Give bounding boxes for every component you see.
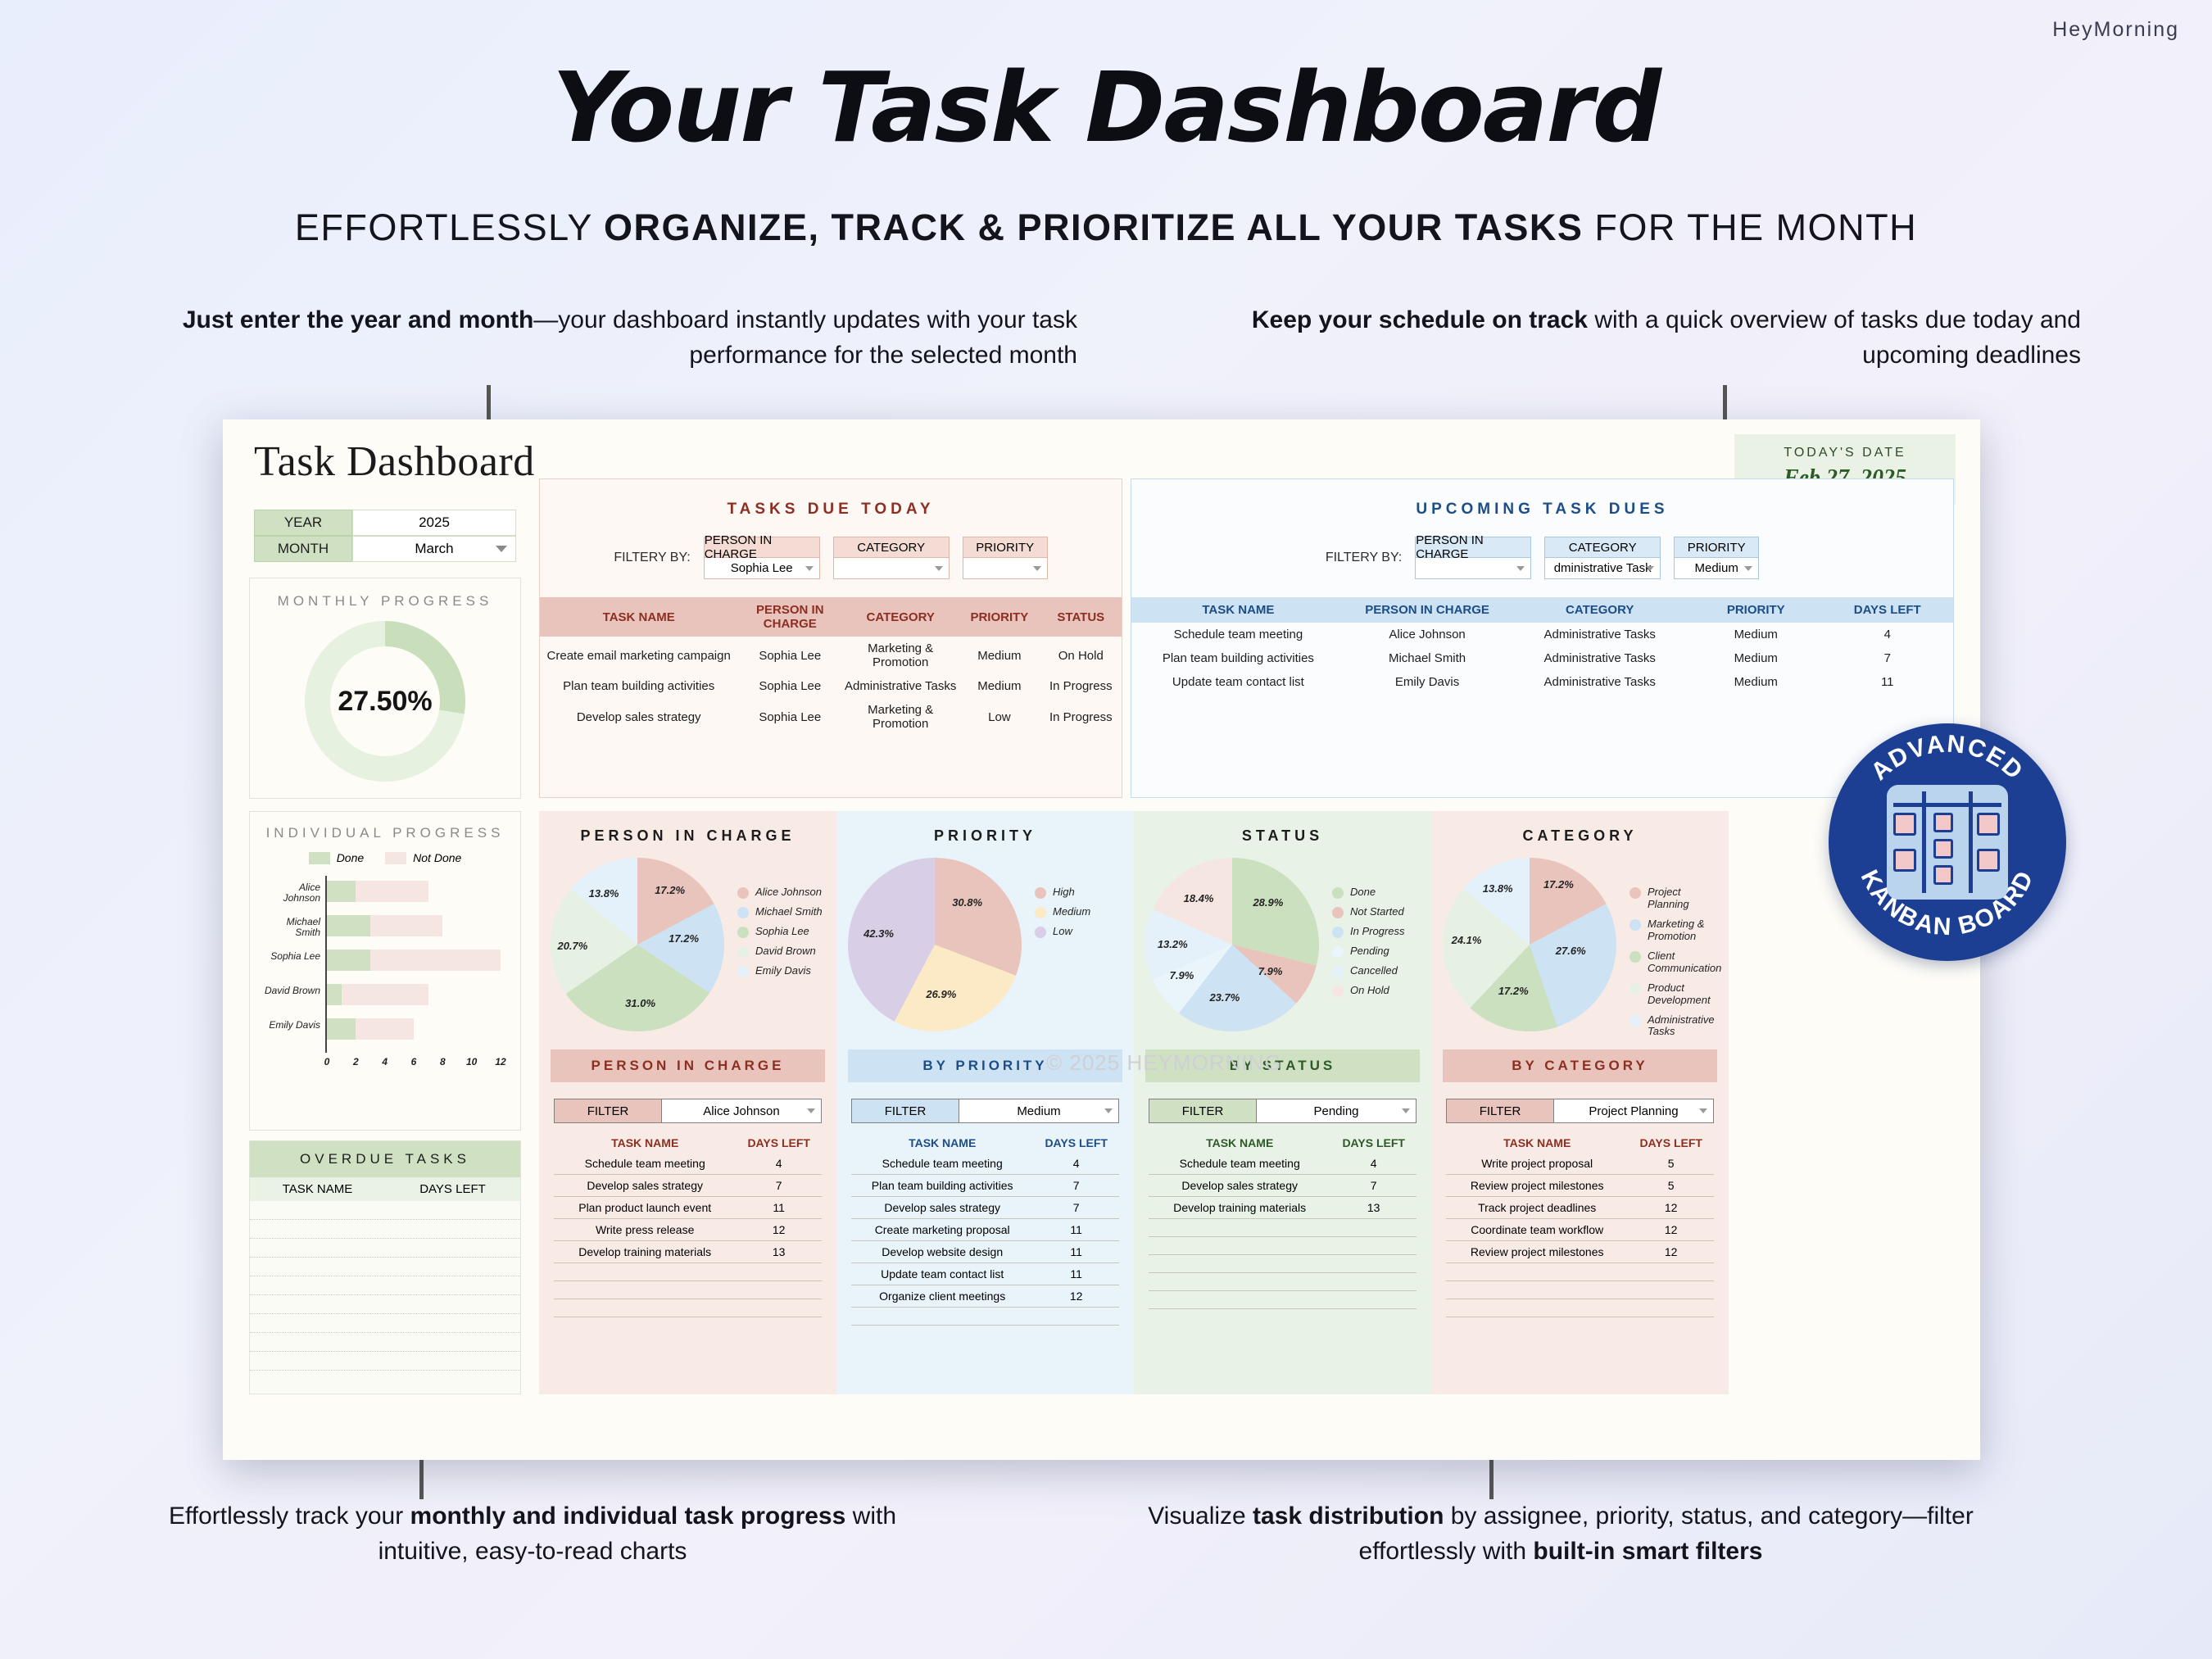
- table-row: Schedule team meeting4: [1149, 1153, 1416, 1175]
- col-status: STATUS: [1040, 597, 1122, 637]
- subtitle-pre: EFFORTLESSLY: [295, 206, 604, 248]
- table-row: Develop sales strategy7: [1149, 1175, 1416, 1197]
- pie-chart-title: PERSON IN CHARGE: [539, 811, 836, 845]
- table-header-row: TASK NAMEDAYS LEFT: [1446, 1136, 1714, 1153]
- filter-priority-value[interactable]: [963, 558, 1048, 579]
- bottom-filter-label: FILTER: [1447, 1099, 1553, 1122]
- x-axis-tick: 10: [462, 1056, 482, 1067]
- legend-item: Product Development: [1630, 982, 1724, 1007]
- upcoming-task-dues-table: TASK NAME PERSON IN CHARGE CATEGORY PRIO…: [1131, 597, 1953, 694]
- table-row: [1149, 1237, 1416, 1255]
- table-row: [554, 1281, 822, 1299]
- legend-item-done: Done: [309, 851, 364, 864]
- table-cell: Plan team building activities: [540, 674, 737, 698]
- pie-slice-label: 7.9%: [1258, 965, 1283, 977]
- column-header: DAYS LEFT: [1628, 1136, 1714, 1153]
- overdue-tasks-rows: [250, 1201, 520, 1371]
- tasks-due-today-title: TASKS DUE TODAY: [540, 479, 1122, 519]
- table-row: [250, 1258, 520, 1276]
- table-cell: Administrative Tasks: [1509, 623, 1690, 646]
- filter-priority-value[interactable]: Medium: [1674, 558, 1759, 579]
- column-header: DAYS LEFT: [736, 1136, 822, 1153]
- bar-segment-not-done: [356, 1018, 414, 1040]
- col-person-in-charge: PERSON IN CHARGE: [737, 597, 842, 637]
- table-row: [554, 1299, 822, 1317]
- col-days-left: DAYS LEFT: [1821, 597, 1953, 623]
- col-person-in-charge: PERSON IN CHARGE: [1345, 597, 1510, 623]
- bottom-section-heading: PERSON IN CHARGE: [551, 1049, 825, 1082]
- legend-label: Cancelled: [1350, 965, 1398, 977]
- table-cell: 7: [1033, 1175, 1119, 1197]
- table-cell: Medium: [959, 637, 1040, 674]
- caption-top-left: Just enter the year and month—your dashb…: [160, 303, 1077, 373]
- pie-slice-label: 24.1%: [1452, 934, 1482, 946]
- table-row: [554, 1263, 822, 1281]
- legend-swatch: [1630, 983, 1641, 995]
- chevron-down-icon: [935, 566, 943, 571]
- table-header-row: TASK NAMEDAYS LEFT: [851, 1136, 1119, 1153]
- table-cell: 12: [1033, 1285, 1119, 1308]
- table-cell: Create marketing proposal: [851, 1219, 1033, 1241]
- col-category: CATEGORY: [1509, 597, 1690, 623]
- month-select-value: March: [415, 541, 453, 557]
- x-axis-tick: 6: [404, 1056, 424, 1067]
- col-category: CATEGORY: [842, 597, 959, 637]
- table-cell: [1149, 1237, 1330, 1255]
- tasks-due-today-filters: FILTERY BY: PERSON IN CHARGE Sophia Lee …: [540, 537, 1122, 579]
- filter-category-label: CATEGORY: [1544, 537, 1661, 558]
- table-row: Create email marketing campaignSophia Le…: [540, 637, 1122, 674]
- legend-label: Michael Smith: [755, 906, 823, 918]
- table-cell: Sophia Lee: [737, 698, 842, 736]
- legend-item: Done: [1332, 886, 1426, 899]
- table-cell: [736, 1281, 822, 1299]
- bar-category-label: Michael Smith: [261, 917, 320, 938]
- legend-label: Alice Johnson: [755, 886, 822, 899]
- bar-segment-not-done: [342, 984, 428, 1005]
- table-row: Develop sales strategy7: [554, 1175, 822, 1197]
- legend-swatch: [1332, 907, 1344, 918]
- legend-label: Marketing & Promotion: [1648, 918, 1724, 943]
- table-row: Develop website design11: [851, 1241, 1119, 1263]
- table-cell: Schedule team meeting: [554, 1153, 736, 1175]
- bar-category-label: Sophia Lee: [261, 951, 320, 962]
- table-cell: Organize client meetings: [851, 1285, 1033, 1308]
- table-cell: Schedule team meeting: [1149, 1153, 1330, 1175]
- bar-segment-not-done: [370, 950, 501, 971]
- todays-date-label: TODAY'S DATE: [1734, 446, 1956, 460]
- individual-progress-title: INDIVIDUAL PROGRESS: [250, 825, 520, 841]
- table-cell: Develop sales strategy: [554, 1175, 736, 1197]
- bottom-filter-value: Alice Johnson: [703, 1104, 779, 1118]
- subtitle-post: FOR THE MONTH: [1583, 206, 1917, 248]
- legend-label: Project Planning: [1648, 886, 1724, 911]
- legend-swatch: [737, 887, 749, 899]
- individual-progress-panel: INDIVIDUAL PROGRESS Done Not Done Alice …: [249, 811, 521, 1131]
- x-axis-tick: 8: [433, 1056, 452, 1067]
- pie-slice-label: 18.4%: [1184, 892, 1214, 904]
- pie-chart-title: STATUS: [1134, 811, 1431, 845]
- pie-chart-title: CATEGORY: [1431, 811, 1729, 845]
- legend-label: Administrative Tasks: [1648, 1014, 1724, 1039]
- legend-swatch: [1630, 887, 1641, 899]
- table-cell: [1330, 1237, 1416, 1255]
- table-cell: Develop sales strategy: [540, 698, 737, 736]
- chevron-down-icon: [1516, 566, 1525, 571]
- table-cell: Low: [959, 698, 1040, 736]
- filter-category[interactable]: CATEGORY: [833, 537, 950, 579]
- table-cell: [851, 1308, 1033, 1326]
- table-cell: [1330, 1255, 1416, 1273]
- pie-slices: [848, 858, 1022, 1031]
- table-row: [1149, 1291, 1416, 1309]
- table-row: [1149, 1273, 1416, 1291]
- legend-label: Product Development: [1648, 982, 1724, 1007]
- pie-chart: 17.2%17.2%31.0%20.7%13.8%: [551, 858, 724, 1031]
- legend-item-not-done: Not Done: [385, 851, 461, 864]
- table-cell: [554, 1299, 736, 1317]
- filter-priority[interactable]: PRIORITY: [963, 537, 1048, 579]
- table-cell: 13: [1330, 1197, 1416, 1219]
- pie-slice-label: 26.9%: [926, 988, 956, 1000]
- month-select[interactable]: March: [352, 536, 516, 562]
- table-cell: Administrative Tasks: [842, 674, 959, 698]
- table-header-row: TASK NAME PERSON IN CHARGE CATEGORY PRIO…: [540, 597, 1122, 637]
- bottom-filter-value: Pending: [1313, 1104, 1358, 1118]
- pie-slice-label: 13.2%: [1158, 938, 1188, 950]
- legend-label: Not Started: [1350, 906, 1404, 918]
- table-cell: Develop training materials: [554, 1241, 736, 1263]
- table-cell: Michael Smith: [1345, 646, 1510, 670]
- year-month-controls: YEAR 2025 MONTH March: [254, 510, 516, 562]
- filter-by-label: FILTERY BY:: [614, 551, 690, 565]
- monthly-progress-panel: MONTHLY PROGRESS 27.50%: [249, 578, 521, 799]
- bottom-filter[interactable]: FILTERProject Planning: [1446, 1099, 1714, 1123]
- pie-legend: HighMediumLow: [1035, 886, 1129, 945]
- bottom-table: TASK NAMEDAYS LEFTWrite project proposal…: [1446, 1136, 1714, 1317]
- pie-slice-label: 13.8%: [589, 887, 619, 900]
- table-row: [250, 1314, 520, 1333]
- pie-slice-label: 31.0%: [625, 997, 655, 1009]
- caption-bottom-right: Visualize task distribution by assignee,…: [1098, 1499, 2024, 1569]
- table-cell: Write project proposal: [1446, 1153, 1628, 1175]
- year-input[interactable]: 2025: [352, 510, 516, 536]
- caption-tr-rest: with a quick overview of tasks due today…: [1588, 306, 2081, 369]
- upcoming-task-dues-title: UPCOMING TASK DUES: [1131, 479, 1953, 519]
- bottom-section-heading: BY CATEGORY: [1443, 1049, 1717, 1082]
- table-cell: 4: [1033, 1153, 1119, 1175]
- table-row: Schedule team meeting4: [851, 1153, 1119, 1175]
- x-axis-tick: 0: [317, 1056, 337, 1067]
- bottom-filter[interactable]: FILTERMedium: [851, 1099, 1119, 1123]
- table-row: Write press release12: [554, 1219, 822, 1241]
- bar-category-label: David Brown: [261, 986, 320, 996]
- table-cell: Develop sales strategy: [851, 1197, 1033, 1219]
- caption-bottom-left: Effortlessly track your monthly and indi…: [160, 1499, 905, 1569]
- table-row: [250, 1220, 520, 1239]
- watermark: © 2025 HEYMORNING: [1046, 1050, 1282, 1076]
- legend-swatch: [1035, 887, 1046, 899]
- brand-logo: HeyMorning: [2052, 18, 2179, 42]
- caption-tl-rest: —your dashboard instantly updates with y…: [533, 306, 1077, 369]
- filter-person-in-charge-label: PERSON IN CHARGE: [1415, 537, 1531, 558]
- filter-person-in-charge[interactable]: PERSON IN CHARGE Sophia Lee: [704, 537, 820, 579]
- filter-priority-label: PRIORITY: [1674, 537, 1759, 558]
- table-cell: Marketing & Promotion: [842, 637, 959, 674]
- table-row: Track project deadlines12: [1446, 1197, 1714, 1219]
- overdue-tasks-panel: OVERDUE TASKS TASK NAME DAYS LEFT: [249, 1140, 521, 1394]
- filter-person-in-charge-value[interactable]: [1415, 558, 1531, 579]
- legend-item: High: [1035, 886, 1129, 899]
- page-title: Your Task Dashboard: [0, 51, 2212, 164]
- table-cell: Update team contact list: [851, 1263, 1033, 1285]
- bottom-filter[interactable]: FILTERPending: [1149, 1099, 1416, 1123]
- kanban-board-icon: [1887, 785, 2008, 900]
- filter-person-in-charge[interactable]: PERSON IN CHARGE: [1415, 537, 1531, 579]
- table-cell: 7: [1033, 1197, 1119, 1219]
- pie-slice-label: 42.3%: [863, 927, 894, 940]
- table-cell: 7: [1821, 646, 1953, 670]
- year-row: YEAR 2025: [254, 510, 516, 536]
- table-cell: In Progress: [1040, 674, 1122, 698]
- filter-person-in-charge-value[interactable]: Sophia Lee: [704, 558, 820, 579]
- column-header: TASK NAME: [851, 1136, 1033, 1153]
- table-row: [1446, 1299, 1714, 1317]
- table-cell: Update team contact list: [1131, 670, 1345, 694]
- pie-slice-label: 20.7%: [557, 940, 587, 952]
- table-cell: [1628, 1263, 1714, 1281]
- table-row: [851, 1308, 1119, 1326]
- legend-item: Not Started: [1332, 906, 1426, 918]
- pie-slice-label: 17.2%: [1498, 985, 1529, 997]
- table-cell: 7: [1330, 1175, 1416, 1197]
- legend-label: Emily Davis: [755, 965, 811, 977]
- legend-label: Low: [1053, 926, 1072, 938]
- bar-category-label: Alice Johnson: [261, 882, 320, 904]
- x-axis-tick: 2: [346, 1056, 365, 1067]
- overdue-tasks-header-row: TASK NAME DAYS LEFT: [250, 1177, 520, 1201]
- legend-label: Sophia Lee: [755, 926, 809, 938]
- filter-priority[interactable]: PRIORITY Medium: [1674, 537, 1759, 579]
- priority-column: PRIORITY30.8%26.9%42.3%HighMediumLowBY P…: [836, 811, 1134, 1394]
- legend-swatch: [737, 907, 749, 918]
- legend-swatch-done: [309, 852, 330, 864]
- table-cell: 11: [1033, 1241, 1119, 1263]
- bottom-filter-value: Medium: [1017, 1104, 1060, 1118]
- table-cell: Administrative Tasks: [1509, 670, 1690, 694]
- table-row: Create marketing proposal11: [851, 1219, 1119, 1241]
- table-cell: 11: [736, 1197, 822, 1219]
- table-cell: [736, 1299, 822, 1317]
- table-header-row: TASK NAMEDAYS LEFT: [554, 1136, 822, 1153]
- column-header: TASK NAME: [554, 1136, 736, 1153]
- table-cell: Plan team building activities: [1131, 646, 1345, 670]
- legend-item: Low: [1035, 926, 1129, 938]
- table-row: Schedule team meetingAlice JohnsonAdmini…: [1131, 623, 1953, 646]
- upcoming-task-dues-filters: FILTERY BY: PERSON IN CHARGE CATEGORY dm…: [1131, 537, 1953, 579]
- legend-label: High: [1053, 886, 1075, 899]
- bottom-filter[interactable]: FILTERAlice Johnson: [554, 1099, 822, 1123]
- col-priority: PRIORITY: [959, 597, 1040, 637]
- column-header: DAYS LEFT: [1033, 1136, 1119, 1153]
- pie-slice-label: 28.9%: [1253, 896, 1283, 909]
- legend-label-done: Done: [337, 851, 364, 864]
- table-row: Review project milestones12: [1446, 1241, 1714, 1263]
- table-row: Develop sales strategySophia LeeMarketin…: [540, 698, 1122, 736]
- table-cell: [1330, 1219, 1416, 1237]
- table-row: [250, 1352, 520, 1371]
- legend-item: Client Communication: [1630, 950, 1724, 975]
- col-days-left: DAYS LEFT: [385, 1177, 520, 1201]
- sheet-title: Task Dashboard: [254, 437, 535, 486]
- table-cell: 5: [1628, 1175, 1714, 1197]
- table-cell: Create email marketing campaign: [540, 637, 737, 674]
- caption-top-right: Keep your schedule on track with a quick…: [1213, 303, 2081, 373]
- pie-chart: 30.8%26.9%42.3%: [848, 858, 1022, 1031]
- column-header: TASK NAME: [1446, 1136, 1628, 1153]
- legend-swatch: [1630, 1015, 1641, 1027]
- table-cell: Medium: [1690, 646, 1821, 670]
- chevron-down-icon: [1033, 566, 1041, 571]
- chevron-down-icon: [1699, 1108, 1707, 1113]
- legend-swatch: [1332, 986, 1344, 997]
- table-row: Plan product launch event11: [554, 1197, 822, 1219]
- bar-segment-not-done: [370, 915, 442, 936]
- table-header-row: TASK NAME PERSON IN CHARGE CATEGORY PRIO…: [1131, 597, 1953, 623]
- table-row: Develop sales strategy7: [851, 1197, 1119, 1219]
- bottom-filter-select[interactable]: Pending: [1256, 1099, 1416, 1122]
- legend-label: On Hold: [1350, 985, 1389, 997]
- legend-swatch: [1332, 887, 1344, 899]
- status-column: STATUS28.9%7.9%23.7%7.9%13.2%18.4%DoneNo…: [1134, 811, 1431, 1394]
- chevron-down-icon: [805, 566, 814, 571]
- table-row: Develop training materials13: [1149, 1197, 1416, 1219]
- tasks-due-today-table: TASK NAME PERSON IN CHARGE CATEGORY PRIO…: [540, 597, 1122, 736]
- x-axis-tick: 12: [491, 1056, 510, 1067]
- col-task-name: TASK NAME: [540, 597, 737, 637]
- table-cell: [1149, 1255, 1330, 1273]
- table-cell: [554, 1263, 736, 1281]
- chevron-down-icon: [1744, 566, 1752, 571]
- table-cell: [1446, 1263, 1628, 1281]
- pie-chart: 28.9%7.9%23.7%7.9%13.2%18.4%: [1145, 858, 1319, 1031]
- table-cell: 12: [1628, 1197, 1714, 1219]
- bottom-filter-select[interactable]: Alice Johnson: [661, 1099, 821, 1122]
- table-cell: [1446, 1281, 1628, 1299]
- table-cell: Track project deadlines: [1446, 1197, 1628, 1219]
- table-row: Review project milestones5: [1446, 1175, 1714, 1197]
- table-cell: 4: [1330, 1153, 1416, 1175]
- pie-legend: Alice JohnsonMichael SmithSophia LeeDavi…: [737, 886, 832, 985]
- legend-swatch: [1630, 919, 1641, 931]
- table-cell: [1628, 1281, 1714, 1299]
- chevron-down-icon: [1104, 1108, 1113, 1113]
- filter-category-value[interactable]: dministrative Task: [1544, 558, 1661, 579]
- filter-person-in-charge-label: PERSON IN CHARGE: [704, 537, 820, 558]
- month-row: MONTH March: [254, 536, 516, 562]
- bottom-table: TASK NAMEDAYS LEFTSchedule team meeting4…: [554, 1136, 822, 1317]
- filter-category-label: CATEGORY: [833, 537, 950, 558]
- pie-slice-label: 13.8%: [1483, 882, 1513, 895]
- table-cell: 12: [1628, 1219, 1714, 1241]
- legend-label-not-done: Not Done: [413, 851, 461, 864]
- table-cell: [1149, 1291, 1330, 1309]
- chevron-down-icon: [1646, 566, 1654, 571]
- table-row: Develop training materials13: [554, 1241, 822, 1263]
- subtitle-bold: ORGANIZE, TRACK & PRIORITIZE ALL YOUR TA…: [604, 206, 1583, 248]
- column-header: DAYS LEFT: [1330, 1136, 1416, 1153]
- legend-label: Medium: [1053, 906, 1090, 918]
- table-cell: 5: [1628, 1153, 1714, 1175]
- bottom-filter-select[interactable]: Medium: [959, 1099, 1118, 1122]
- pie-legend: DoneNot StartedIn ProgressPendingCancell…: [1332, 886, 1426, 1004]
- pie-slice-label: 17.2%: [655, 884, 685, 896]
- monthly-progress-title: MONTHLY PROGRESS: [250, 593, 520, 610]
- table-row: [250, 1276, 520, 1295]
- legend-item: Marketing & Promotion: [1630, 918, 1724, 943]
- bottom-filter-label: FILTER: [555, 1099, 661, 1122]
- table-row: [1446, 1281, 1714, 1299]
- bar-segment-done: [327, 984, 342, 1005]
- legend-swatch: [1332, 946, 1344, 958]
- table-row: Schedule team meeting4: [554, 1153, 822, 1175]
- table-cell: 12: [1628, 1241, 1714, 1263]
- bar-segment-not-done: [356, 881, 428, 902]
- table-cell: [1628, 1299, 1714, 1317]
- legend-swatch-not-done: [385, 852, 406, 864]
- table-cell: [554, 1281, 736, 1299]
- table-cell: 11: [1033, 1263, 1119, 1285]
- chevron-down-icon: [807, 1108, 815, 1113]
- table-cell: [1446, 1299, 1628, 1317]
- table-cell: [736, 1263, 822, 1281]
- table-row: [250, 1295, 520, 1314]
- legend-label: In Progress: [1350, 926, 1404, 938]
- table-cell: [1330, 1273, 1416, 1291]
- bottom-filter-label: FILTER: [852, 1099, 959, 1122]
- bottom-table: TASK NAMEDAYS LEFTSchedule team meeting4…: [851, 1136, 1119, 1326]
- legend-item: Administrative Tasks: [1630, 1014, 1724, 1039]
- bar-segment-done: [327, 950, 370, 971]
- pie-slice-label: 17.2%: [1543, 878, 1574, 891]
- overdue-tasks-title: OVERDUE TASKS: [250, 1141, 520, 1177]
- chevron-down-icon: [496, 546, 507, 552]
- year-label: YEAR: [254, 510, 352, 536]
- pie-chart-title: PRIORITY: [836, 811, 1134, 845]
- svg-text:ADVANCED: ADVANCED: [1866, 730, 2029, 786]
- bar-segment-done: [327, 915, 370, 936]
- table-cell: [1330, 1291, 1416, 1309]
- table-cell: 12: [736, 1219, 822, 1241]
- x-axis-tick: 4: [375, 1056, 395, 1067]
- table-cell: Marketing & Promotion: [842, 698, 959, 736]
- pie-chart: 17.2%27.6%17.2%24.1%13.8%: [1443, 858, 1616, 1031]
- bottom-filter-select[interactable]: Project Planning: [1553, 1099, 1713, 1122]
- chevron-down-icon: [1402, 1108, 1410, 1113]
- col-task-name: TASK NAME: [250, 1177, 385, 1201]
- filter-by-label: FILTERY BY:: [1326, 551, 1402, 565]
- filter-category[interactable]: CATEGORY dministrative Task: [1544, 537, 1661, 579]
- table-row: [250, 1239, 520, 1258]
- table-cell: Develop training materials: [1149, 1197, 1330, 1219]
- legend-item: In Progress: [1332, 926, 1426, 938]
- legend-swatch: [1332, 927, 1344, 938]
- table-cell: Sophia Lee: [737, 674, 842, 698]
- filter-category-value[interactable]: [833, 558, 950, 579]
- legend-swatch: [737, 946, 749, 958]
- advanced-kanban-board-badge: ADVANCED KANBAN BOARD: [1829, 723, 2066, 961]
- pie-legend: Project PlanningMarketing & PromotionCli…: [1630, 886, 1724, 1045]
